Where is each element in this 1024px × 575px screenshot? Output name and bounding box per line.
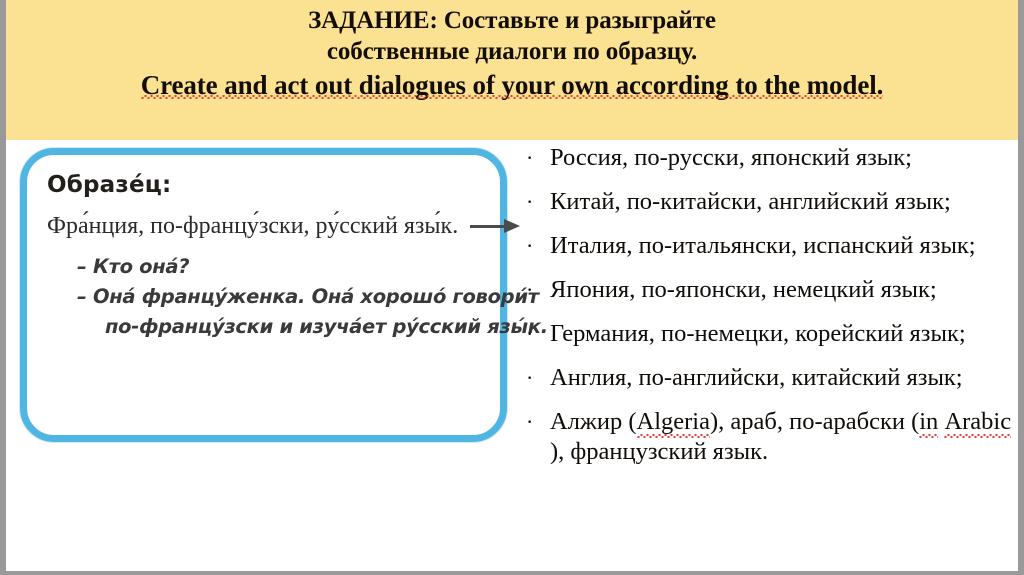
dialogue-line-1: – Кто она́?: [77, 252, 482, 282]
text-run: ), араб, по-арабски (: [710, 408, 919, 435]
example-title: Образе́ц:: [47, 171, 482, 199]
example-prompt-row: Фра́нция, по-францу́зски, ру́сский язы́к…: [47, 212, 482, 240]
list-item: ·Германия, по-немецки, корейский язык;: [526, 319, 1022, 349]
example-prompt-text: Фра́нция, по-францу́зски, ру́сский язы́к…: [47, 212, 458, 240]
bullet-icon: ·: [526, 231, 550, 261]
list-item: · Италия, по-итальянски, испанский язык;: [526, 231, 1022, 261]
list-item-text: Япония, по-японски, немецкий язык;: [550, 275, 1022, 305]
misspelled-word: Arabic: [944, 407, 1011, 437]
arrow-shaft: [470, 225, 506, 228]
text-run: Алжир (: [550, 408, 637, 435]
list-item-text: Англия, по-английски, китайский язык;: [550, 363, 1022, 393]
bullet-icon: ·: [526, 143, 550, 173]
right-arrow-icon: [470, 219, 522, 233]
example-card: Образе́ц: Фра́нция, по-францу́зски, ру́с…: [20, 148, 507, 442]
list-item-text: Германия, по-немецки, корейский язык;: [550, 319, 1022, 349]
list-item: ·Алжир (Algeria), араб, по-арабски (in A…: [526, 407, 1022, 467]
example-card-content: Образе́ц: Фра́нция, по-францу́зски, ру́с…: [27, 155, 500, 342]
example-dialogue: – Кто она́? – Она́ францу́женка. Она́ хо…: [47, 252, 482, 342]
header-line-1: ЗАДАНИЕ: Составьте и разыграйте: [308, 6, 716, 36]
list-item: · Япония, по-японски, немецкий язык;: [526, 275, 1022, 305]
list-item: ·Китай, по-китайски, английский язык;: [526, 187, 1022, 217]
text-run: ), французский язык.: [550, 438, 768, 465]
dialogue-line-2: – Она́ францу́женка. Она́ хорошо́ говори…: [77, 282, 482, 312]
list-item: ·Россия, по-русски, японский язык;: [526, 143, 1022, 173]
bullet-icon: ·: [526, 187, 550, 217]
bullet-icon: ·: [526, 275, 550, 305]
arrow-head: [504, 219, 520, 233]
header-line-3-english: Create and act out dialogues of your own…: [141, 68, 884, 102]
misspelled-word: Algeria: [637, 407, 710, 437]
task-list: ·Россия, по-русски, японский язык;·Китай…: [526, 143, 1022, 481]
task-header-band: ЗАДАНИЕ: Составьте и разыграйте собствен…: [6, 0, 1018, 140]
bullet-icon: ·: [526, 319, 550, 349]
dialogue-line-3: по-францу́зски и изуча́ет ру́сский язы́к…: [77, 312, 482, 342]
list-item-text: Россия, по-русски, японский язык;: [550, 143, 1022, 173]
list-item-text: Италия, по-итальянски, испанский язык;: [550, 231, 1022, 261]
misspelled-word: in: [919, 407, 938, 437]
list-item-text: Алжир (Algeria), араб, по-арабски (in Ar…: [550, 407, 1022, 467]
list-item: · Англия, по-английски, китайский язык;: [526, 363, 1022, 393]
slide-root: ЗАДАНИЕ: Составьте и разыграйте собствен…: [0, 0, 1024, 575]
bullet-icon: ·: [526, 407, 550, 437]
header-line-2: собственные диалоги по образцу.: [327, 36, 697, 67]
list-item-text: Китай, по-китайски, английский язык;: [550, 187, 1022, 217]
bullet-icon: ·: [526, 363, 550, 393]
header-line-3-text: Create and act out dialogues of your own…: [141, 70, 884, 100]
